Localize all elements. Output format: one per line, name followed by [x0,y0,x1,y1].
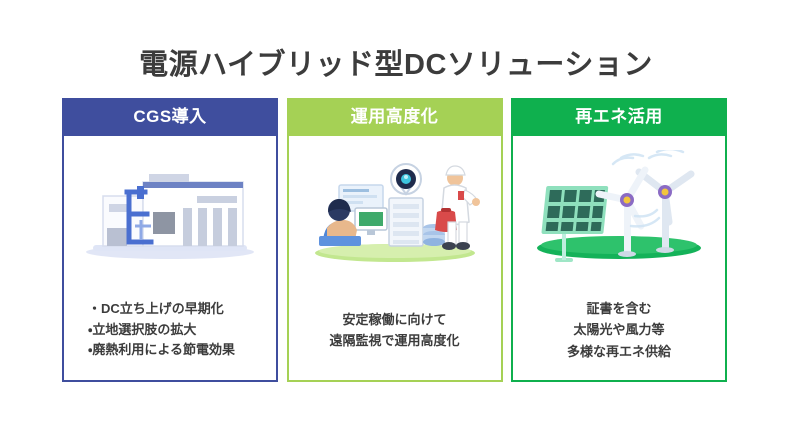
card-cgs-header: CGS導入 [62,98,278,136]
remote-monitoring-icon [289,136,501,286]
card-renewable-text: 証書を含む 太陽光や風力等 多様な再エネ供給 [513,286,725,380]
solution-cards-row: CGS導入 [62,98,727,382]
card-renewable-lines: 証書を含む 太陽光や風力等 多様な再エネ供給 [523,298,715,361]
card-operation-text: 安定稼働に向けて 遠隔監視で運用高度化 [289,286,501,380]
card-renewable-body: 証書を含む 太陽光や風力等 多様な再エネ供給 [513,136,725,380]
list-item: ・立地選択肢の拡大 [88,320,266,341]
solar-wind-icon [513,136,725,286]
card-operation-header: 運用高度化 [287,98,503,136]
text-line: 安定稼働に向けて [299,309,491,330]
card-cgs-body: ・DC立ち上げの早期化 ・立地選択肢の拡大 ・廃熱利用による節電効果 [64,136,276,380]
list-item: ・廃熱利用による節電効果 [88,340,266,361]
card-operation-body: 安定稼働に向けて 遠隔監視で運用高度化 [289,136,501,380]
card-renewable[interactable]: 再エネ活用 [511,98,727,382]
card-cgs[interactable]: CGS導入 [62,98,278,382]
card-cgs-text: ・DC立ち上げの早期化 ・立地選択肢の拡大 ・廃熱利用による節電効果 [64,286,276,380]
text-line: 太陽光や風力等 [523,319,715,340]
card-cgs-bullets: ・DC立ち上げの早期化 ・立地選択肢の拡大 ・廃熱利用による節電効果 [74,299,266,361]
text-line: 遠隔監視で運用高度化 [299,330,491,351]
text-line: 証書を含む [523,298,715,319]
card-renewable-header: 再エネ活用 [511,98,727,136]
card-operation[interactable]: 運用高度化 [287,98,503,382]
text-line: 多様な再エネ供給 [523,341,715,362]
page-title: 電源ハイブリッド型DCソリューション [0,50,792,82]
list-item: ・DC立ち上げの早期化 [88,299,266,320]
power-plant-icon [64,136,276,286]
slide-canvas: 電源ハイブリッド型DCソリューション CGS導入 [0,0,792,448]
card-operation-lines: 安定稼働に向けて 遠隔監視で運用高度化 [299,309,491,351]
